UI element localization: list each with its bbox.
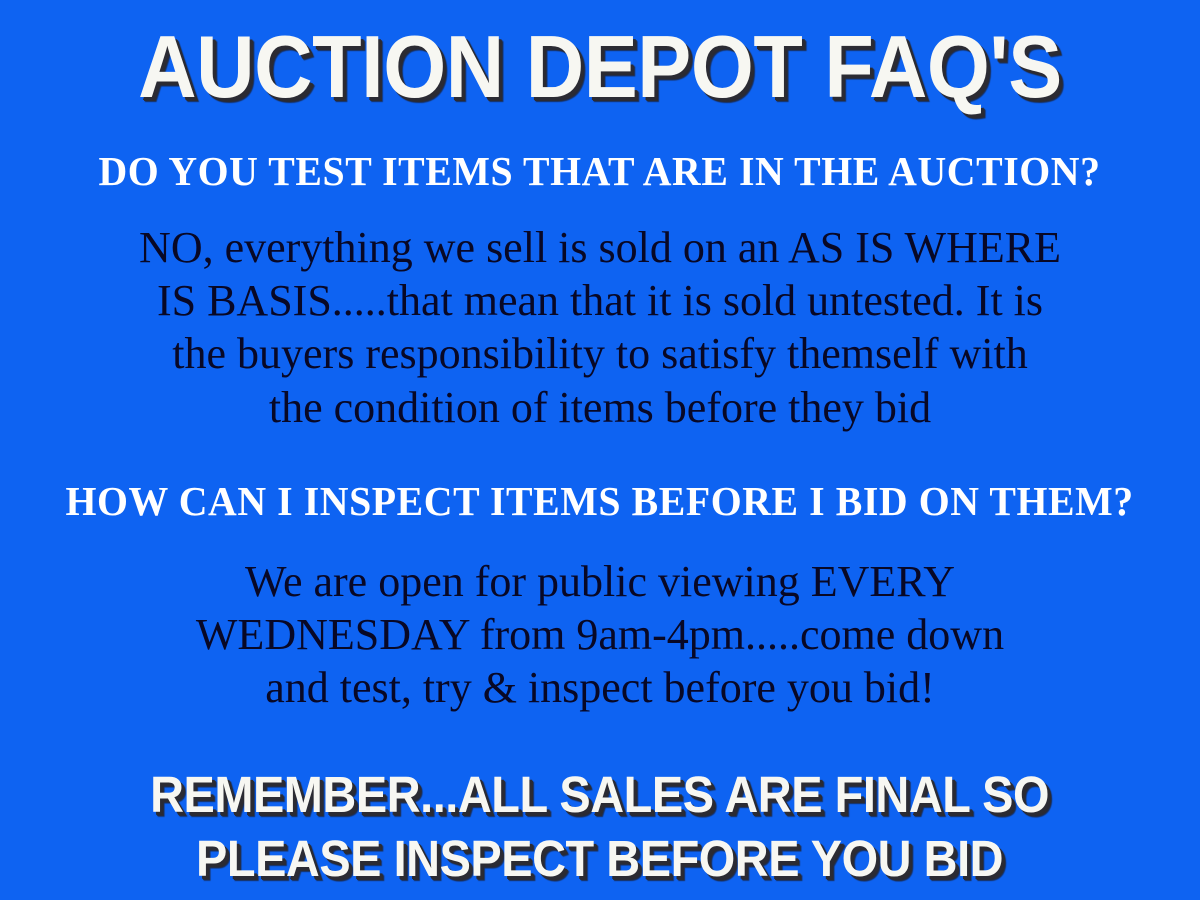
answer-line: We are open for public viewing EVERY — [30, 555, 1170, 608]
answer-line: the condition of items before they bid — [30, 381, 1170, 434]
faq-answer-1: NO, everything we sell is sold on an AS … — [30, 221, 1170, 434]
faq-poster: AUCTION DEPOT FAQ'S DO YOU TEST ITEMS TH… — [0, 0, 1200, 900]
answer-line: the buyers responsibility to satisfy the… — [30, 327, 1170, 380]
footer-line: REMEMBER...ALL SALES ARE FINAL SO — [151, 763, 1050, 827]
answer-line: NO, everything we sell is sold on an AS … — [30, 221, 1170, 274]
answer-line: IS BASIS.....that mean that it is sold u… — [30, 274, 1170, 327]
answer-line: WEDNESDAY from 9am-4pm.....come down — [30, 608, 1170, 661]
faq-answer-2: We are open for public viewing EVERY WED… — [30, 555, 1170, 715]
footer-callout: REMEMBER...ALL SALES ARE FINAL SO PLEASE… — [151, 763, 1050, 892]
faq-question-2: HOW CAN I INSPECT ITEMS BEFORE I BID ON … — [66, 478, 1134, 525]
footer-line: PLEASE INSPECT BEFORE YOU BID — [151, 827, 1050, 891]
faq-question-1: DO YOU TEST ITEMS THAT ARE IN THE AUCTIO… — [99, 148, 1101, 195]
answer-line: and test, try & inspect before you bid! — [30, 661, 1170, 714]
page-title: AUCTION DEPOT FAQ'S — [138, 22, 1062, 112]
